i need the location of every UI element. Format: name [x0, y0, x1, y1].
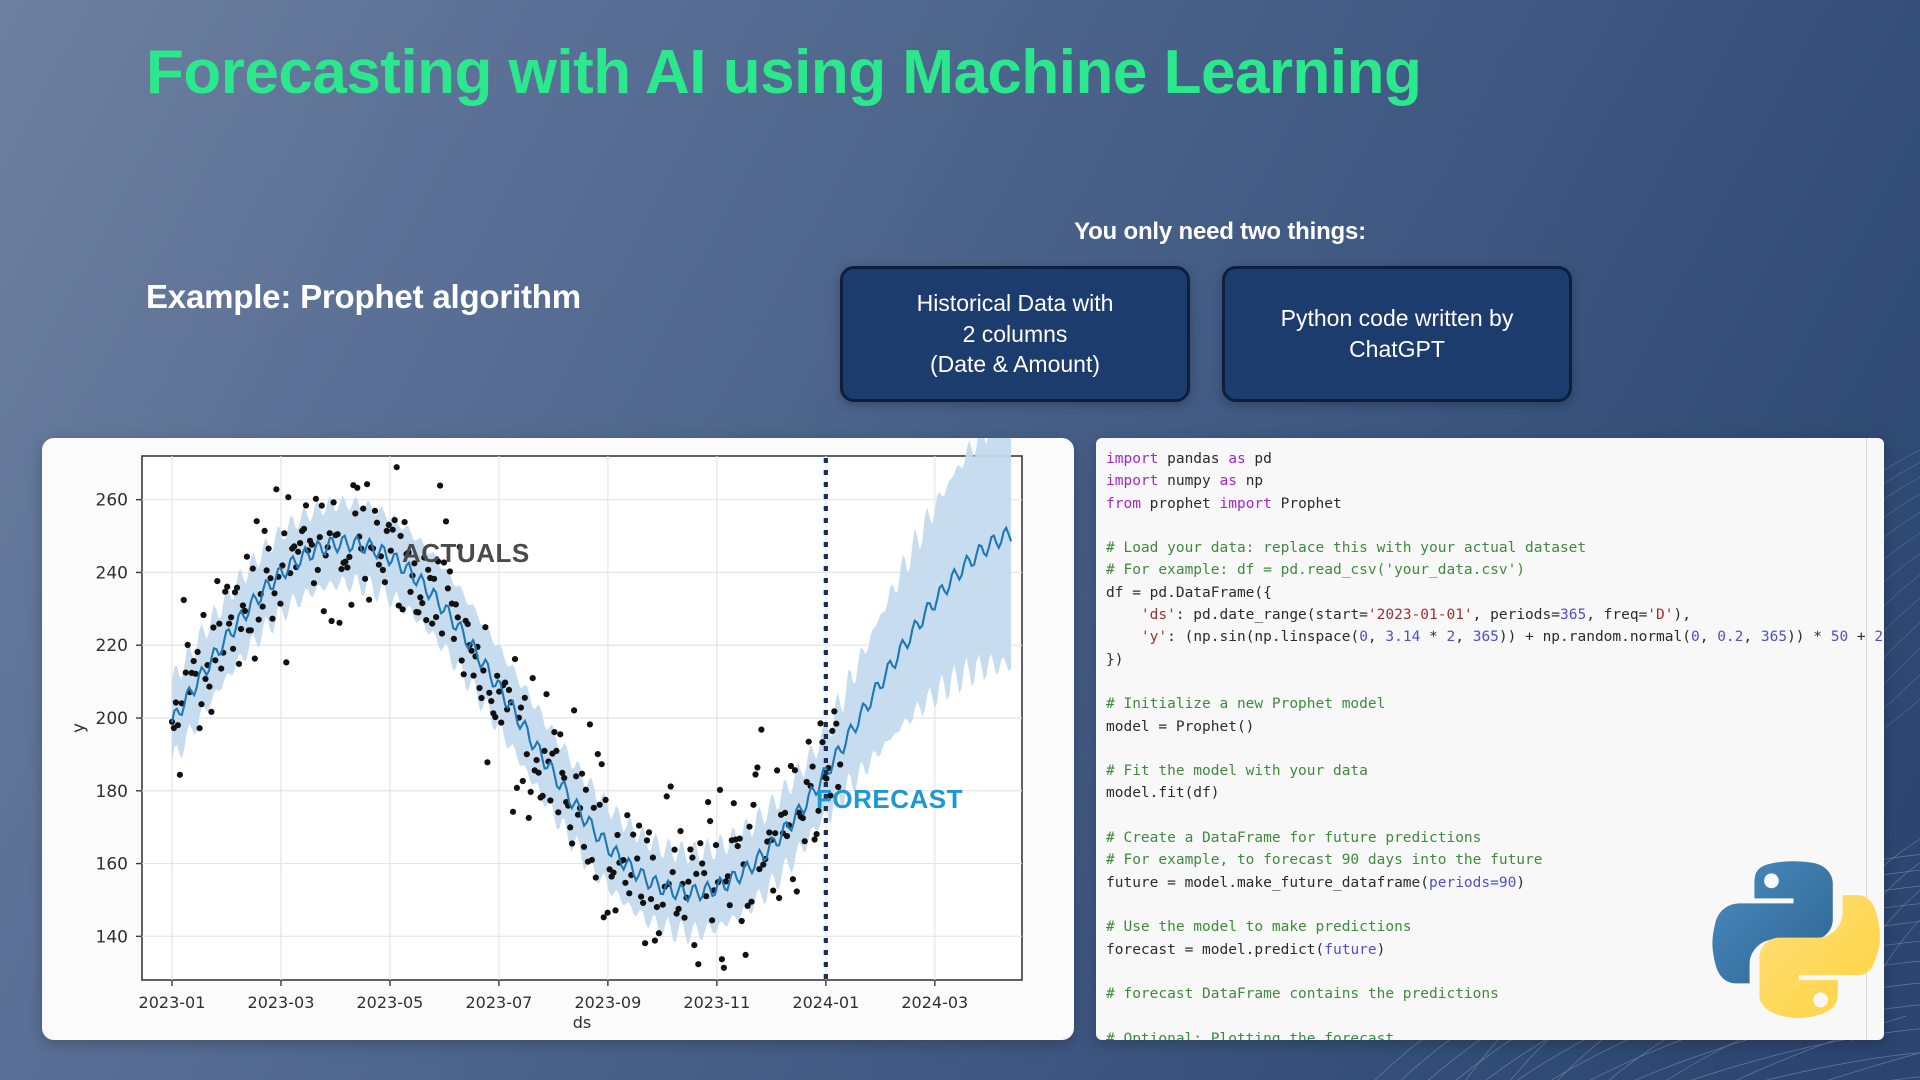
- svg-text:ds: ds: [573, 1013, 592, 1032]
- svg-text:2024-03: 2024-03: [901, 993, 968, 1012]
- requirement-box-historical-data[interactable]: Historical Data with 2 columns (Date & A…: [840, 266, 1190, 402]
- svg-text:2023-07: 2023-07: [465, 993, 532, 1012]
- subtitle: Example: Prophet algorithm: [146, 278, 581, 316]
- svg-text:240: 240: [96, 563, 128, 583]
- svg-text:200: 200: [96, 709, 128, 729]
- annotation-forecast: FORECAST: [816, 784, 963, 815]
- svg-text:2023-11: 2023-11: [683, 993, 750, 1012]
- svg-text:2023-01: 2023-01: [139, 993, 206, 1012]
- svg-text:140: 140: [96, 927, 128, 947]
- requirement-box-label: Python code written by ChatGPT: [1281, 303, 1514, 365]
- page-title: Forecasting with AI using Machine Learni…: [146, 34, 1566, 112]
- svg-text:y: y: [69, 723, 89, 733]
- svg-text:2024-01: 2024-01: [792, 993, 859, 1012]
- svg-text:220: 220: [96, 636, 128, 656]
- svg-text:160: 160: [96, 855, 128, 875]
- svg-text:2023-05: 2023-05: [356, 993, 423, 1012]
- svg-text:2023-03: 2023-03: [248, 993, 315, 1012]
- requirement-box-label: Historical Data with 2 columns (Date & A…: [917, 288, 1114, 380]
- slide-canvas: Forecasting with AI using Machine Learni…: [0, 0, 1920, 1080]
- python-logo: [1708, 848, 1880, 1020]
- forecast-chart-card: 140160180200220240260 2023-012023-032023…: [42, 438, 1074, 1040]
- svg-text:260: 260: [96, 491, 128, 511]
- annotation-actuals: ACTUALS: [402, 538, 530, 569]
- requirements-boxes: Historical Data with 2 columns (Date & A…: [840, 266, 1572, 402]
- svg-text:2023-09: 2023-09: [574, 993, 641, 1012]
- requirements-heading: You only need two things:: [1010, 218, 1430, 246]
- svg-text:180: 180: [96, 782, 128, 802]
- forecast-chart: 140160180200220240260 2023-012023-032023…: [42, 438, 1074, 1040]
- requirement-box-python-code[interactable]: Python code written by ChatGPT: [1222, 266, 1572, 402]
